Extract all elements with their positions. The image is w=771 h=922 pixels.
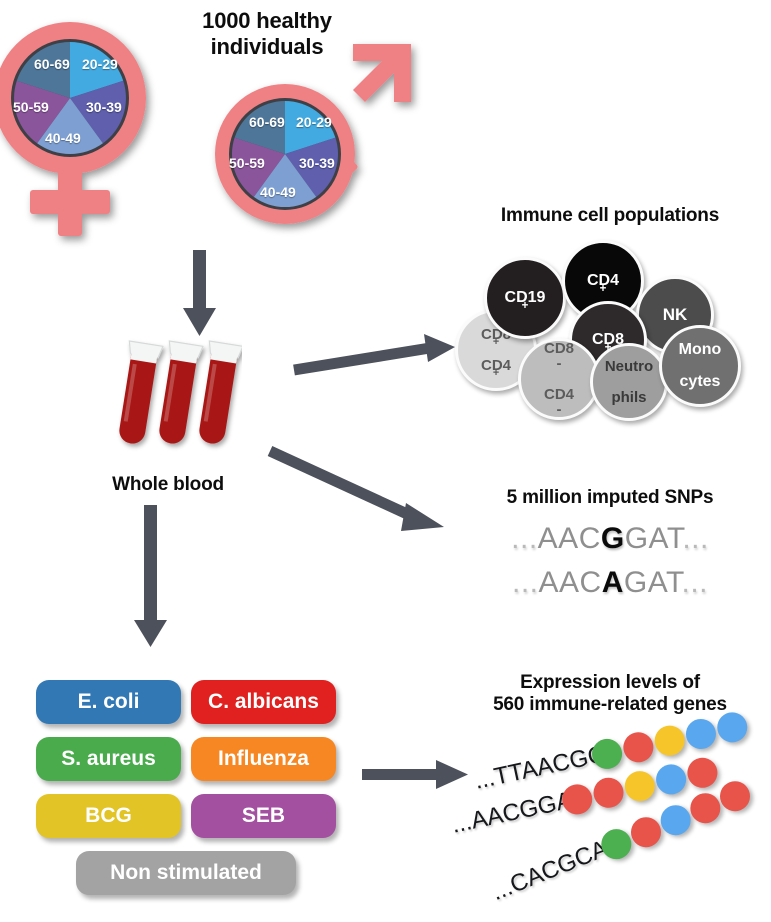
snp-suffix: ...: [682, 522, 709, 555]
male-pie-label-40-49: 40-49: [260, 184, 296, 200]
bead-2: [621, 729, 657, 765]
male-symbol: 20-29 30-39 40-49 50-59 60-69: [198, 32, 426, 242]
bead-4: [683, 716, 719, 752]
male-pie-label-50-59: 50-59: [229, 155, 265, 171]
arrow-blood-to-snps: [268, 445, 448, 540]
immune-cell-neutrophils: Neutro phils: [590, 343, 668, 421]
female-symbol: 20-29 30-39 40-49 50-59 60-69: [8, 12, 183, 244]
arrow-cohort-to-blood: [175, 250, 225, 340]
cell-label: NK: [663, 306, 688, 323]
male-pie-label-30-39: 30-39: [299, 155, 335, 171]
bead-5: [714, 710, 750, 746]
stimulant-s-aureus[interactable]: S. aureus: [36, 737, 181, 781]
snp-left: AAC: [539, 566, 602, 599]
bead-1: [559, 782, 595, 818]
female-pie-label-40-49: 40-49: [45, 130, 81, 146]
female-pie-label-20-29: 20-29: [82, 56, 118, 72]
stimulant-influenza[interactable]: Influenza: [191, 737, 336, 781]
stimulant-seb[interactable]: SEB: [191, 794, 336, 838]
diagram-canvas: 1000 healthy individuals: [0, 0, 771, 922]
immune-cell-cd19: CD19+: [484, 257, 566, 339]
female-pie-label-50-59: 50-59: [13, 99, 49, 115]
cell-label-line1: Mono: [679, 342, 722, 358]
female-pie-label-30-39: 30-39: [86, 99, 122, 115]
snps-heading: 5 million imputed SNPs: [455, 487, 765, 509]
snp-left: AAC: [538, 522, 601, 555]
cell-sup1: -: [544, 356, 574, 371]
immune-cell-cluster: CD8+ CD4+ CD19+ CD4+ NK CD8+ CD8- CD4- N…: [455, 235, 765, 410]
arrow-blood-to-immune: [292, 328, 457, 376]
male-pie-label-20-29: 20-29: [296, 114, 332, 130]
snp-suffix: ...: [681, 566, 708, 599]
bead-3: [652, 723, 688, 759]
cell-label-line2: CD4: [544, 387, 574, 402]
expression-heading-line1: Expression levels of: [455, 672, 765, 694]
stimulant-c-albicans[interactable]: C. albicans: [191, 680, 336, 724]
expression-strand-3: ...CACGCAA: [488, 829, 627, 907]
expression-strand-2: ...AACGGAT: [449, 784, 587, 840]
immune-heading: Immune cell populations: [455, 205, 765, 227]
immune-cell-monocytes: Mono cytes: [659, 325, 741, 407]
female-pie-label-60-69: 60-69: [34, 56, 70, 72]
snp-prefix: ...: [512, 566, 539, 599]
cell-label-line2: cytes: [679, 374, 722, 390]
snp-sequence-row-2: ...AACAGAT...: [455, 566, 765, 600]
male-pie-label-60-69: 60-69: [249, 114, 285, 130]
page-title-line1: 1000 healthy: [172, 8, 362, 34]
whole-blood-label: Whole blood: [78, 474, 258, 496]
snp-prefix: ...: [511, 522, 538, 555]
snp-variant-allele: A: [602, 566, 624, 599]
cell-label-line2: phils: [605, 390, 653, 405]
snp-variant-allele: G: [601, 522, 625, 555]
immune-cell-cd8-cd4-neg: CD8- CD4-: [518, 338, 600, 420]
bead-3: [622, 768, 658, 804]
stimulant-bcg[interactable]: BCG: [36, 794, 181, 838]
cell-sup2: -: [544, 402, 574, 417]
snp-sequence-row-1: ...AACGGAT...: [455, 522, 765, 556]
snp-right: GAT: [625, 522, 683, 555]
stimulant-e-coli[interactable]: E. coli: [36, 680, 181, 724]
bead-2: [591, 775, 627, 811]
snp-right: GAT: [624, 566, 682, 599]
bead-4: [653, 762, 689, 798]
bead-1: [589, 736, 625, 772]
blood-tubes: [112, 335, 242, 465]
bead-5: [715, 777, 754, 816]
expression-heading: Expression levels of 560 immune-related …: [455, 672, 765, 717]
arrow-blood-to-stimuli: [130, 505, 180, 650]
cell-label-line1: CD8: [544, 341, 574, 356]
snp-sequences: ...AACGGAT... ...AACAGAT...: [455, 522, 765, 622]
cell-label-line1: Neutro: [605, 359, 653, 374]
expression-strands: ...TTAACGG ...AACGGAT ...CACGCAA: [455, 730, 771, 915]
stimulant-non-stimulated[interactable]: Non stimulated: [76, 851, 296, 895]
